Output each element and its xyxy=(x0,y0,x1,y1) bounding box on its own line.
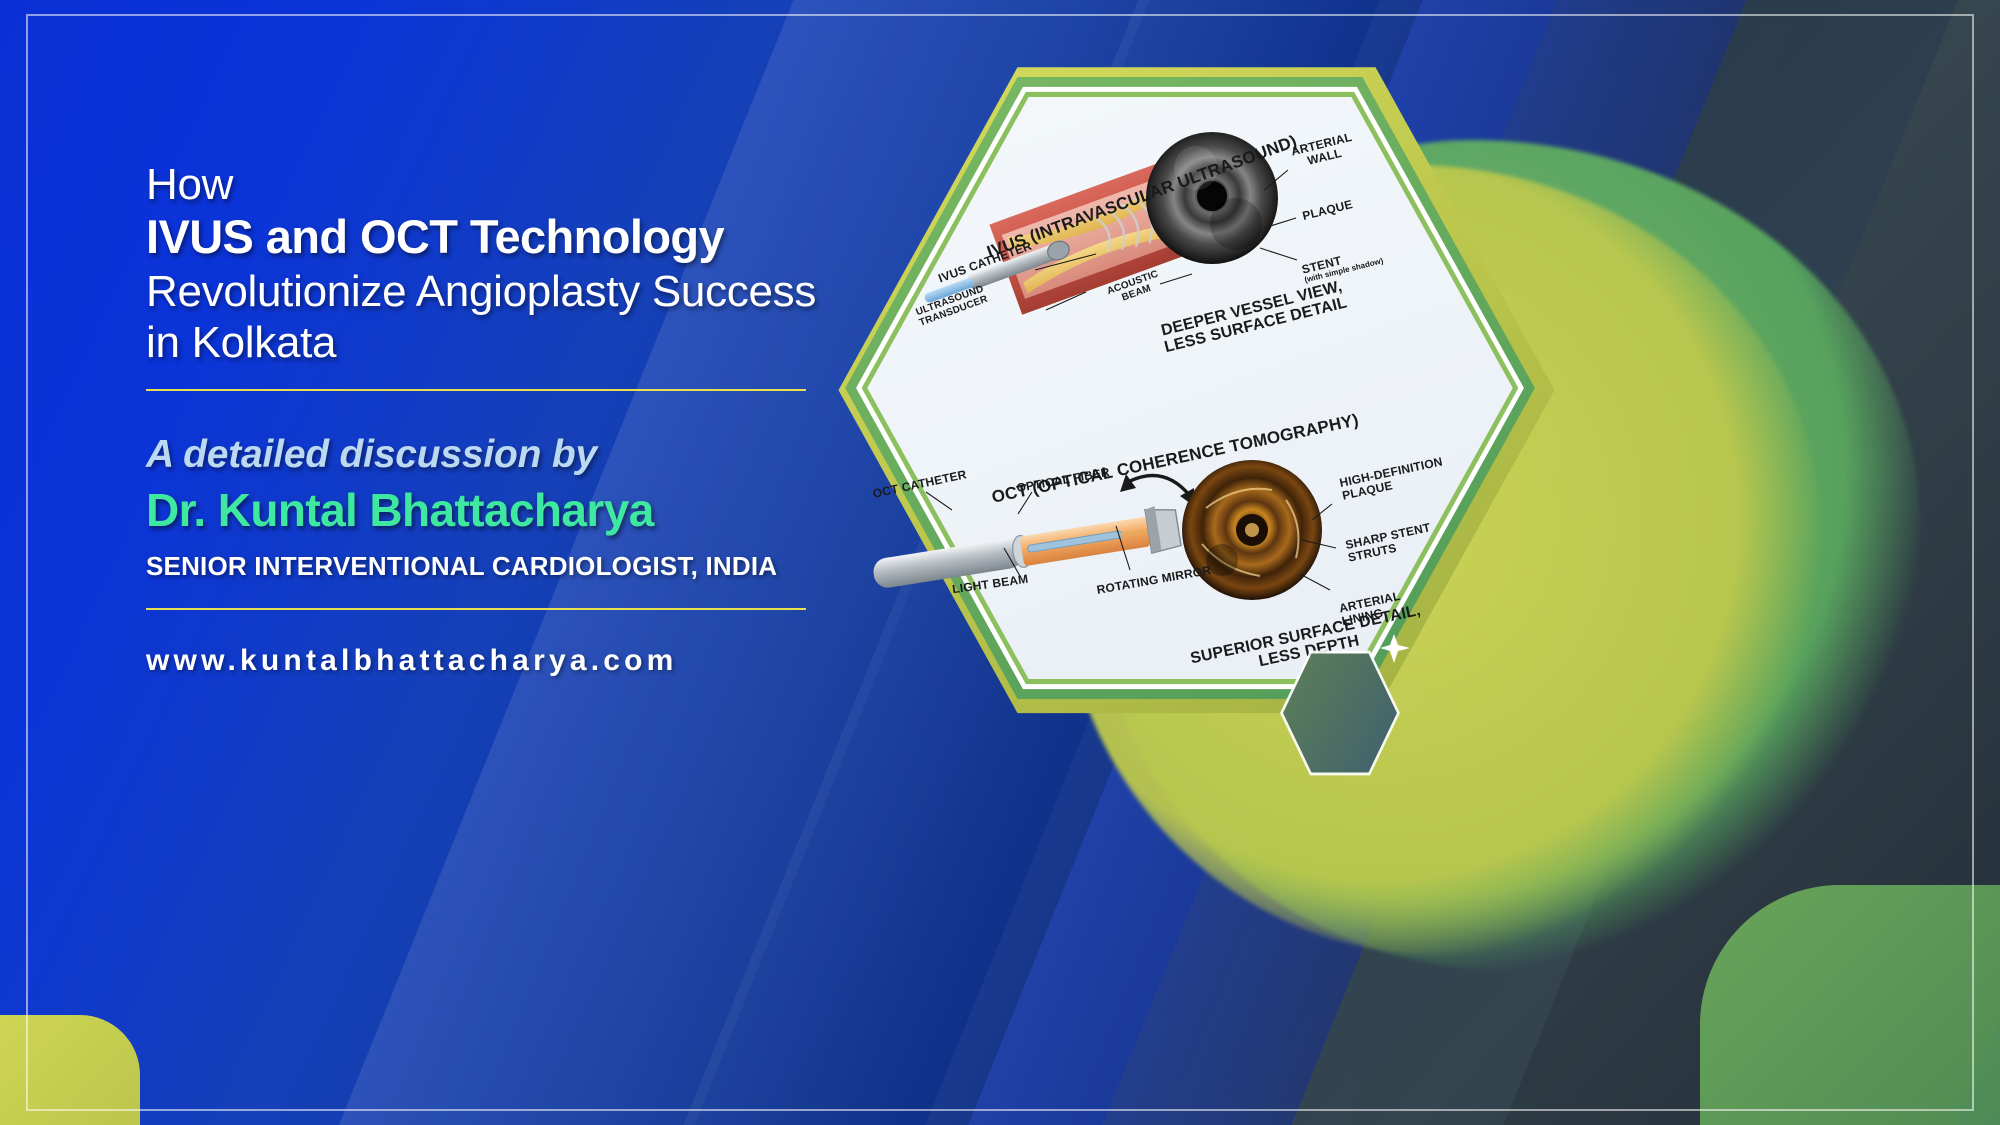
corner-accent-yellow xyxy=(0,1015,140,1125)
divider-top xyxy=(146,389,806,391)
doctor-name: Dr. Kuntal Bhattacharya xyxy=(146,483,886,537)
title-line-4: in Kolkata xyxy=(146,318,886,367)
title-line-1: How xyxy=(146,160,886,209)
text-column: How IVUS and OCT Technology Revolutioniz… xyxy=(146,160,886,678)
byline-text: A detailed discussion by xyxy=(146,433,886,477)
corner-accent-green xyxy=(1700,885,2000,1125)
banner-root: How IVUS and OCT Technology Revolutioniz… xyxy=(0,0,2000,1125)
credentials-text: SENIOR INTERVENTIONAL CARDIOLOGIST, INDI… xyxy=(146,551,886,582)
website-url[interactable]: www.kuntalbhattacharya.com xyxy=(146,644,886,678)
title-line-2: IVUS and OCT Technology xyxy=(146,211,886,264)
title-line-3: Revolutionize Angioplasty Success xyxy=(146,267,886,316)
page-title: How IVUS and OCT Technology Revolutioniz… xyxy=(146,160,886,367)
infographic-card: IVUS (INTRAVASCULAR ULTRASOUND) IVUS CAT… xyxy=(860,78,1520,698)
divider-bottom xyxy=(146,608,806,610)
